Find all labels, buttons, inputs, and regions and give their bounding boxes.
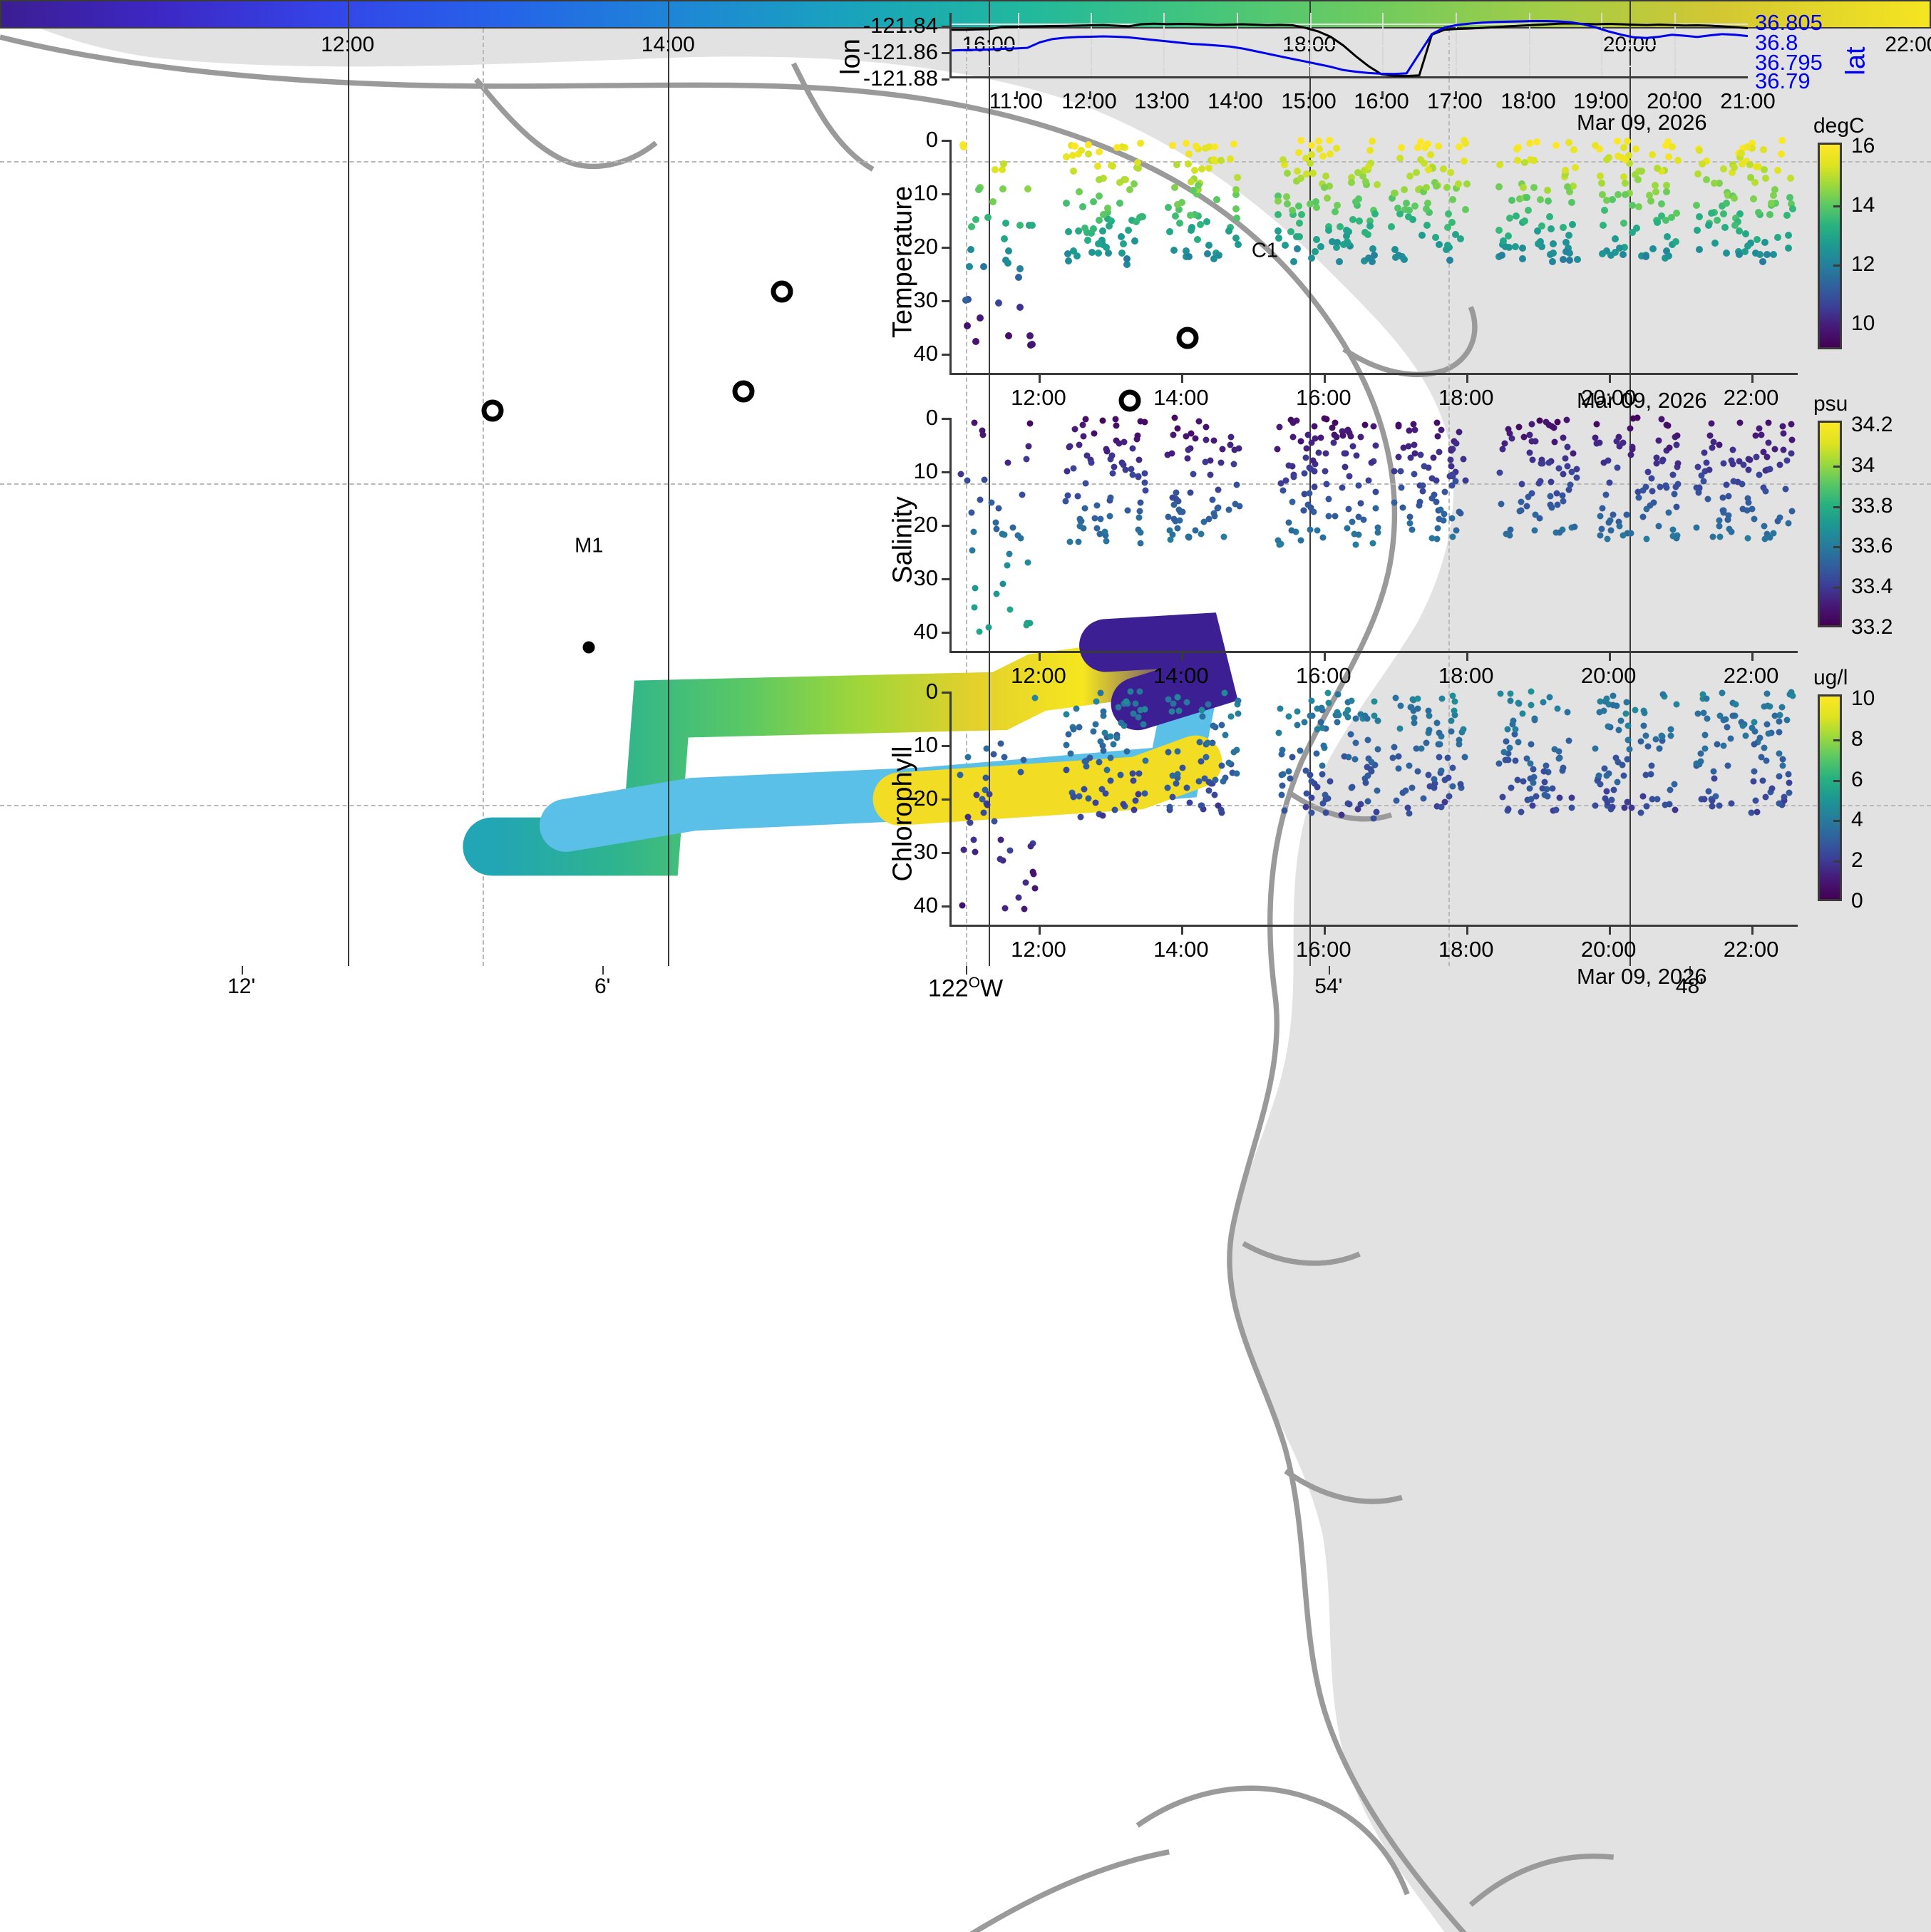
scatter-point (1352, 756, 1359, 762)
scatter-point (1568, 795, 1575, 801)
scatter-point (1397, 468, 1404, 474)
temperature-plot-area[interactable] (949, 140, 1798, 375)
scatter-point (1617, 523, 1623, 530)
scatter-point (1329, 425, 1336, 431)
scatter-point (1742, 230, 1749, 237)
scatter-point (1568, 805, 1575, 811)
scatter-point (1120, 240, 1127, 247)
depth-ytick-label: 40 (914, 619, 938, 644)
scatter-point (1785, 232, 1792, 239)
scatter-point (1673, 701, 1679, 707)
scatter-point (1165, 785, 1171, 791)
scatter-point (1398, 484, 1404, 490)
scatter-point (1663, 188, 1670, 195)
scatter-point (1370, 423, 1376, 430)
scatter-point (1439, 695, 1446, 702)
scatter-point (1776, 801, 1783, 807)
scatter-point (1213, 196, 1220, 203)
scatter-point (1185, 533, 1191, 540)
scatter-point (1731, 164, 1738, 171)
scatter-point (1657, 483, 1664, 490)
scatter-point (1002, 220, 1009, 227)
scatter-point (1776, 774, 1783, 780)
colorbar-tick-label: 33.4 (1851, 575, 1893, 599)
scatter-point (1171, 502, 1178, 508)
scatter-point (1721, 224, 1729, 231)
scatter-point (1015, 894, 1021, 900)
scatter-point (1352, 198, 1359, 205)
scatter-point (1174, 694, 1180, 700)
time-xtick-mark (1466, 653, 1468, 661)
scatter-point (1078, 147, 1085, 154)
scatter-point (1137, 140, 1144, 147)
scatter-point (1021, 905, 1027, 912)
scatter-point (1001, 532, 1007, 538)
scatter-point (1523, 194, 1530, 201)
scatter-point (1593, 421, 1600, 427)
lonlat-timeseries-panel[interactable]: -121.84 -121.86 -121.88 lon 36.805 36.8 … (949, 13, 1748, 91)
depth-ytick-label: 20 (914, 786, 938, 811)
scatter-point (1763, 251, 1771, 258)
scatter-point (1720, 210, 1727, 217)
scatter-point (1659, 692, 1666, 698)
scatter-point (1525, 493, 1532, 500)
scatter-point (1431, 776, 1438, 782)
scatter-point (1304, 431, 1311, 438)
scatter-point (1759, 258, 1766, 265)
scatter-point (1353, 716, 1359, 722)
scatter-point (1289, 433, 1296, 440)
depth-ytick-label: 10 (914, 458, 938, 484)
scatter-point (1191, 167, 1198, 174)
scatter-point (1420, 482, 1426, 488)
colorbar-tick-label: 33.2 (1851, 615, 1893, 639)
scatter-point (1552, 746, 1558, 752)
scatter-point (972, 420, 978, 426)
scatter-point (1449, 515, 1456, 521)
scatter-point (1322, 415, 1328, 421)
salinity-panel[interactable]: Salinity Mar 09, 2026 34.23433.833.633.4… (949, 418, 1798, 653)
scatter-point (1726, 525, 1732, 532)
scatter-point (1711, 240, 1719, 247)
scatter-point (1549, 423, 1555, 429)
scatter-point (1640, 793, 1647, 799)
scatter-point (1606, 479, 1612, 485)
scatter-point (1108, 778, 1114, 784)
scatter-point (1699, 473, 1705, 479)
scatter-point (1538, 222, 1545, 230)
scatter-point (1026, 332, 1034, 339)
scatter-point (1094, 163, 1101, 170)
scatter-point (1346, 505, 1352, 512)
scatter-point (1603, 788, 1610, 794)
scatter-point (1602, 766, 1608, 772)
scatter-point (1436, 241, 1443, 248)
scatter-point (1288, 528, 1294, 534)
time-xtick-mark (1181, 927, 1183, 935)
scatter-point (1098, 516, 1104, 523)
scatter-point (1721, 742, 1727, 749)
scatter-point (1169, 772, 1175, 779)
scatter-point (1444, 242, 1451, 249)
scatter-point (979, 428, 986, 434)
scatter-point (1135, 432, 1141, 438)
scatter-point (1597, 513, 1603, 519)
scatter-point (1081, 433, 1087, 440)
lon-axis-label: lon (836, 36, 867, 78)
scatter-point (1756, 426, 1762, 432)
colorbar-tick-label: 12 (1851, 252, 1875, 277)
scatter-point (1284, 170, 1291, 177)
scatter-point (1566, 257, 1573, 264)
salinity-date-label: Mar 09, 2026 (1577, 388, 1707, 413)
time-xtick-label: 18:00 (1438, 663, 1494, 689)
scatter-point (1725, 762, 1731, 769)
scatter-point (1103, 446, 1110, 452)
scatter-point (1114, 735, 1121, 741)
scatter-point (1352, 740, 1359, 746)
scatter-point (1560, 498, 1567, 505)
lonlat-xtick-label: 13:00 (1134, 88, 1190, 114)
scatter-point (1140, 721, 1147, 727)
scatter-point (1016, 265, 1024, 272)
scatter-point (1170, 247, 1178, 254)
scatter-point (1081, 505, 1088, 512)
scatter-point (1079, 203, 1086, 210)
scatter-point (1065, 731, 1071, 738)
scatter-point (1605, 723, 1612, 729)
scatter-point (1418, 232, 1426, 239)
scatter-point (1101, 747, 1107, 754)
scatter-point (968, 509, 974, 515)
scatter-point (1364, 231, 1371, 238)
scatter-point (1396, 422, 1402, 428)
scatter-point (1294, 709, 1301, 715)
scatter-point (1419, 488, 1426, 494)
scatter-point (1728, 801, 1734, 807)
scatter-point (1662, 217, 1669, 224)
scatter-point (1373, 443, 1379, 449)
depth-ytick-mark (942, 140, 949, 142)
scatter-point (1002, 905, 1009, 912)
colorbar-tick-label: 6 (1851, 768, 1863, 792)
scatter-point (1137, 499, 1143, 505)
scatter-point (1308, 778, 1314, 784)
scatter-point (1232, 186, 1240, 193)
scatter-point (1673, 503, 1679, 510)
depth-ytick-mark (942, 578, 949, 580)
scatter-point (1716, 523, 1722, 529)
salinity-plot-area[interactable] (949, 418, 1798, 653)
scatter-point (1644, 803, 1650, 810)
temperature-panel[interactable]: Temperature Mar 09, 2026 16141210 degC 0… (949, 140, 1798, 375)
scatter-point (1462, 754, 1468, 760)
scatter-point (1234, 482, 1240, 488)
scatter-point (1674, 157, 1682, 164)
salinity-colorbar[interactable]: 34.23433.833.633.433.2 (1818, 421, 1842, 627)
scatter-point (1171, 415, 1178, 421)
scatter-point (1724, 481, 1730, 488)
scatter-point (1365, 163, 1372, 170)
time-xtick-mark (1466, 927, 1468, 935)
scatter-point (1095, 250, 1102, 257)
scatter-point (1322, 809, 1329, 816)
scatter-point (1643, 483, 1649, 490)
salinity-colorbar-unit: psu (1813, 392, 1848, 416)
scatter-point (1515, 700, 1522, 706)
chlorophyll-date-label: Mar 09, 2026 (1577, 964, 1707, 990)
scatter-point (1433, 478, 1439, 484)
scatter-point (1554, 501, 1560, 508)
depth-ytick-label: 40 (914, 893, 938, 918)
scatter-point (1723, 250, 1730, 257)
scatter-point (1193, 143, 1200, 150)
time-xtick-label: 14:00 (1153, 663, 1209, 689)
scatter-point (1780, 430, 1786, 436)
scatter-point (1131, 237, 1138, 245)
scatter-point (991, 818, 997, 824)
scatter-point (1308, 698, 1314, 704)
scatter-point (1278, 481, 1284, 487)
scatter-point (1324, 689, 1331, 696)
depth-ytick-mark (942, 692, 949, 694)
scatter-point (1672, 490, 1678, 497)
scatter-point (1107, 513, 1113, 519)
scatter-point (1438, 426, 1444, 433)
scatter-point (1101, 730, 1108, 736)
scatter-point (1562, 248, 1570, 255)
scatter-point (1778, 704, 1785, 711)
scatter-point (1425, 166, 1432, 173)
depth-ytick-mark (942, 798, 949, 801)
scatter-point (997, 855, 1004, 862)
scatter-point (957, 471, 964, 478)
scatter-point (1519, 245, 1526, 252)
scatter-point (1063, 200, 1070, 207)
scatter-point (1706, 466, 1713, 473)
scatter-point (1391, 500, 1398, 506)
time-xtick-label: 14:00 (1153, 937, 1209, 962)
scatter-point (1628, 452, 1634, 458)
chlorophyll-colorbar[interactable]: 1086420 (1818, 694, 1842, 901)
scatter-point (1076, 441, 1082, 448)
scatter-point (1168, 536, 1174, 543)
scatter-point (1124, 507, 1131, 513)
scatter-point (1188, 224, 1195, 231)
scatter-point (1641, 723, 1647, 729)
scatter-point (1352, 542, 1359, 548)
scatter-point (989, 198, 997, 205)
scatter-point (1448, 471, 1455, 478)
scatter-point (1788, 508, 1795, 514)
scatter-point (1076, 539, 1082, 545)
scatter-point (1227, 155, 1234, 163)
scatter-point (1344, 240, 1351, 247)
scatter-point (1540, 785, 1546, 791)
scatter-point (1762, 175, 1769, 182)
scatter-point (1674, 442, 1680, 448)
scatter-point (1131, 807, 1137, 813)
scatter-point (1136, 473, 1142, 480)
scatter-point (1125, 227, 1132, 234)
scatter-point (1312, 436, 1319, 442)
scatter-point (1394, 205, 1401, 212)
scatter-point (1326, 513, 1332, 520)
scatter-point (1556, 794, 1562, 801)
scatter-point (1708, 210, 1715, 217)
scatter-point (1302, 470, 1308, 476)
lon-ytick-mark (942, 26, 949, 28)
scatter-point (1664, 422, 1671, 428)
scatter-point (1409, 527, 1415, 533)
scatter-point (1652, 188, 1659, 195)
scatter-point (1761, 239, 1768, 246)
scatter-point (1215, 252, 1222, 259)
scatter-point (1391, 744, 1397, 750)
lonlat-xtick-label: 11:00 (989, 88, 1043, 114)
scatter-point (1431, 785, 1438, 791)
scatter-point (1431, 491, 1437, 498)
scatter-point (1064, 711, 1070, 718)
scatter-point (1174, 425, 1180, 431)
scatter-point (1071, 143, 1078, 150)
time-xtick-label: 18:00 (1438, 937, 1494, 962)
scatter-point (973, 791, 979, 798)
depth-ytick-mark (942, 745, 949, 747)
scatter-point (1760, 777, 1766, 783)
time-xtick-mark (1324, 927, 1326, 935)
scatter-point (1550, 240, 1557, 247)
scatter-point (1361, 422, 1368, 428)
scatter-point (1654, 219, 1661, 226)
scatter-point (1656, 746, 1662, 752)
scatter-point (1512, 726, 1518, 733)
scatter-point (1502, 441, 1508, 447)
scatter-point (1645, 469, 1652, 476)
scatter-point (993, 590, 999, 597)
scatter-point (1085, 796, 1091, 802)
scatter-point (1448, 718, 1454, 724)
colorbar-tick-mark (1833, 466, 1840, 468)
scatter-point (1620, 532, 1627, 538)
scatter-point (1286, 713, 1292, 719)
scatter-point (1426, 727, 1433, 734)
colorbar-tick-mark (1833, 587, 1840, 589)
scatter-point (1215, 505, 1222, 511)
scatter-point (1365, 772, 1371, 779)
scatter-point (1649, 245, 1657, 252)
scatter-point (1610, 787, 1617, 793)
scatter-point (1183, 433, 1189, 440)
scatter-point (1421, 796, 1427, 802)
scatter-point (1392, 254, 1399, 261)
scatter-point (1393, 797, 1399, 803)
time-tick-circle (481, 399, 503, 421)
scatter-point (1500, 237, 1507, 245)
scatter-point (1320, 534, 1327, 540)
temperature-colorbar[interactable]: 16141210 (1818, 143, 1842, 349)
scatter-point (1118, 772, 1124, 779)
scatter-point (1113, 423, 1119, 429)
chlorophyll-colorbar-unit: ug/l (1813, 666, 1848, 690)
scatter-point (1142, 758, 1148, 764)
scatter-point (1572, 523, 1578, 530)
scatter-point (1319, 800, 1326, 806)
depth-ytick-mark (942, 905, 949, 908)
scatter-point (1560, 256, 1567, 263)
scatter-point (1532, 528, 1538, 534)
scatter-point (1533, 138, 1540, 145)
scatter-point (1574, 256, 1581, 263)
lonlat-xtick-label: 16:00 (1354, 88, 1409, 114)
scatter-point (1503, 756, 1509, 763)
scatter-point (1549, 258, 1556, 265)
scatter-point (995, 299, 1002, 307)
scatter-point (1607, 252, 1615, 259)
scatter-point (1783, 212, 1791, 219)
scatter-point (1205, 165, 1212, 172)
scatter-point (1100, 211, 1107, 218)
scatter-point (1636, 495, 1642, 501)
scatter-point (1076, 793, 1083, 800)
time-xtick-mark (1609, 375, 1611, 383)
scatter-point (1207, 471, 1214, 478)
scatter-point (1562, 167, 1569, 174)
scatter-point (968, 223, 975, 230)
scatter-point (1311, 468, 1317, 475)
scatter-point (1644, 536, 1650, 543)
scatter-point (1355, 482, 1361, 488)
scatter-point (1296, 220, 1303, 227)
scatter-point (983, 746, 989, 752)
temperature-colorbar-unit: degC (1813, 114, 1865, 138)
scatter-point (1364, 716, 1371, 722)
scatter-point (1564, 417, 1570, 423)
chlorophyll-panel[interactable]: Chlorophyll Mar 09, 2026 Mar 09, 2026 10… (949, 692, 1798, 927)
scatter-point (1413, 169, 1420, 176)
scatter-point (1417, 156, 1424, 163)
scatter-point (1564, 709, 1570, 716)
chlorophyll-plot-area[interactable] (949, 692, 1798, 927)
scatter-point (1569, 221, 1576, 228)
scatter-point (1314, 751, 1320, 757)
scatter-point (1171, 184, 1178, 191)
scatter-point (1628, 530, 1634, 536)
scatter-point (1362, 779, 1369, 786)
scatter-point (1703, 176, 1710, 183)
scatter-point (1176, 220, 1183, 227)
colorbar-tick-label: 33.8 (1851, 494, 1893, 518)
scatter-point (1322, 450, 1329, 456)
scatter-point (980, 810, 987, 816)
scatter-point (1124, 749, 1131, 755)
colorbar-tick-label: 33.6 (1851, 534, 1893, 558)
scatter-point (1029, 222, 1036, 229)
scatter-point (1637, 739, 1644, 745)
scatter-point (1435, 433, 1441, 440)
map-panel[interactable]: 54' 36ON 48.00' 42' 12' 6' 122OW 54' 48' (0, 157, 523, 694)
scatter-point (1696, 246, 1703, 253)
scatter-point (1613, 438, 1620, 444)
scatter-point (1550, 250, 1557, 257)
scatter-point (1093, 800, 1099, 806)
scatter-point (1620, 762, 1626, 769)
scatter-point (1436, 448, 1442, 455)
scatter-point (1603, 773, 1610, 779)
scatter-point (1442, 488, 1448, 495)
scatter-point (1325, 796, 1332, 802)
scatter-point (1671, 781, 1677, 787)
